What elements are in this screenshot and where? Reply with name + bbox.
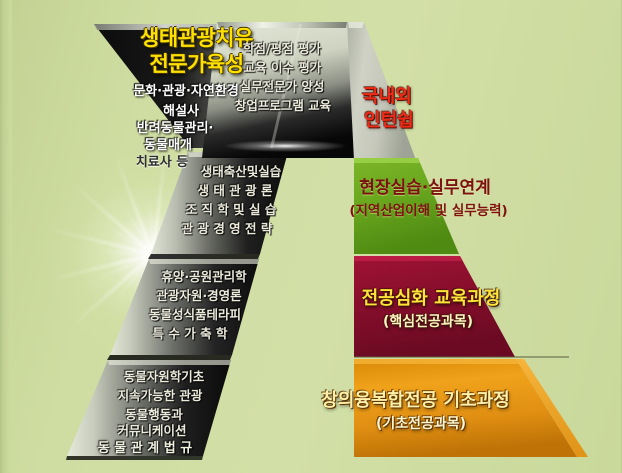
pyramid-graphic (2, 0, 622, 473)
diagram-canvas: 생태관광치유 전문가육성 문화·관광·자연환경 해설사 반려동물관리· 동물매개… (0, 0, 622, 473)
